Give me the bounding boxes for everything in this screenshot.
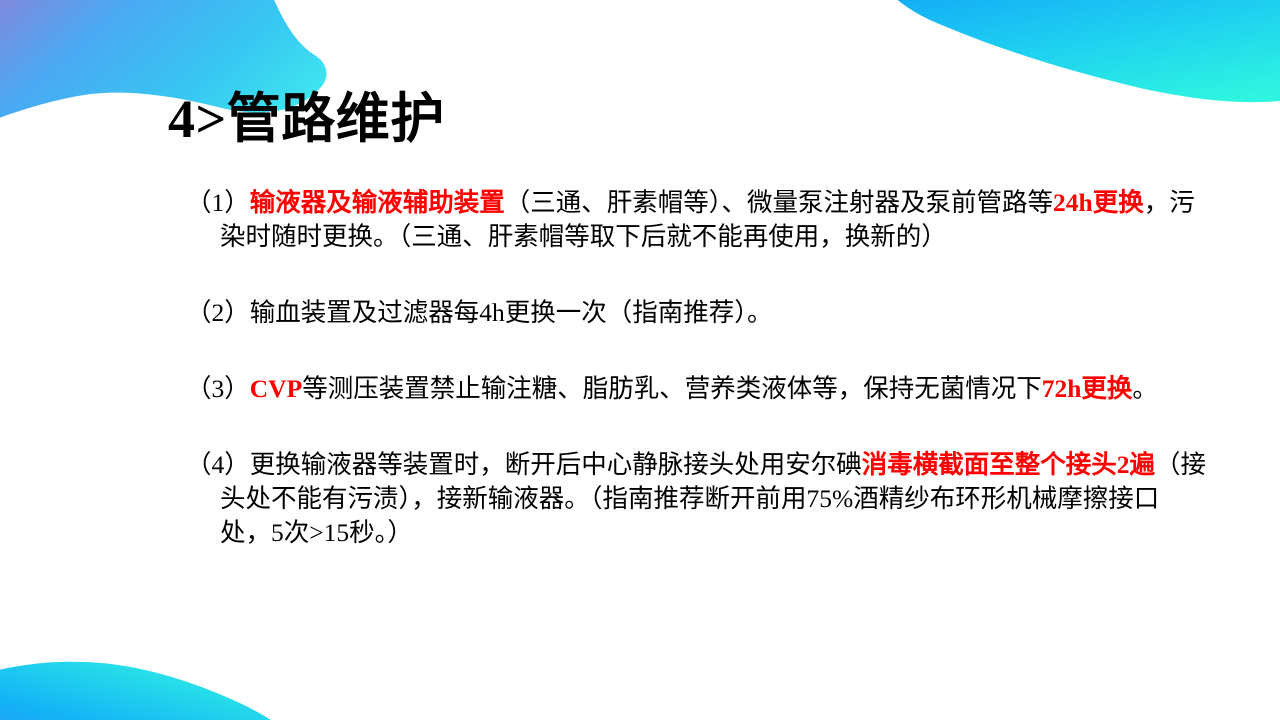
highlight-run: 输液器及输液辅助装置	[250, 188, 505, 217]
text-run: 输血装置及过滤器每4h更换一次（指南推荐）。	[250, 298, 773, 327]
text-run: 更换输液器等装置时，断开后中心静脉接头处用安尔碘	[250, 450, 862, 479]
text-run: 等测压装置禁止输注糖、脂肪乳、营养类液体等，保持无菌情况下	[302, 374, 1042, 403]
slide-title: 4>管路维护	[168, 88, 445, 150]
body-paragraph-1: （1）输液器及输液辅助装置（三通、肝素帽等）、微量泵注射器及泵前管路等24h更换…	[186, 186, 1208, 254]
paragraph-number: （3）	[186, 374, 250, 403]
body-paragraph-4: （4）更换输液器等装置时，断开后中心静脉接头处用安尔碘消毒横截面至整个接头2遍（…	[186, 448, 1208, 550]
highlight-run: CVP	[250, 374, 302, 403]
body-paragraph-3: （3）CVP等测压装置禁止输注糖、脂肪乳、营养类液体等，保持无菌情况下72h更换…	[186, 372, 1208, 406]
paragraph-number: （1）	[186, 188, 250, 217]
highlight-run: 24h更换	[1053, 188, 1144, 217]
slide-canvas: 4>管路维护 （1）输液器及输液辅助装置（三通、肝素帽等）、微量泵注射器及泵前管…	[0, 0, 1280, 720]
highlight-run: 消毒横截面至整个接头2遍	[862, 450, 1155, 479]
highlight-run: 72h更换	[1042, 374, 1133, 403]
slide-body: （1）输液器及输液辅助装置（三通、肝素帽等）、微量泵注射器及泵前管路等24h更换…	[186, 186, 1208, 576]
paragraph-number: （4）	[186, 450, 250, 479]
text-run: 。	[1132, 374, 1158, 403]
deco-wave-top-right	[893, 0, 1280, 102]
body-paragraph-2: （2）输血装置及过滤器每4h更换一次（指南推荐）。	[186, 296, 1208, 330]
text-run: （三通、肝素帽等）、微量泵注射器及泵前管路等	[505, 188, 1053, 217]
deco-wave-bottom-left	[0, 662, 277, 720]
paragraph-number: （2）	[186, 298, 250, 327]
